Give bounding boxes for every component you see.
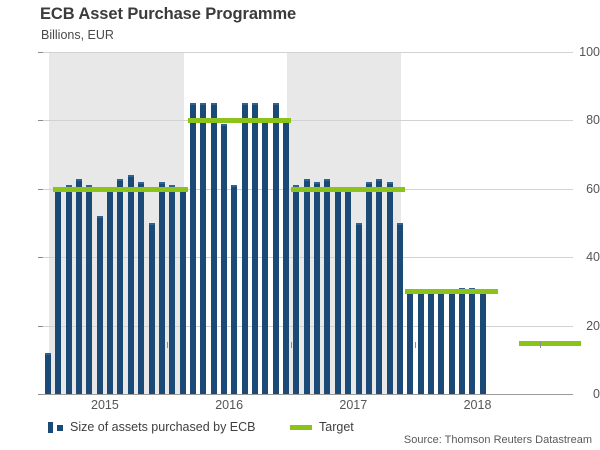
gridline — [43, 52, 573, 53]
x-axis-tick-label: 2017 — [339, 398, 367, 412]
bar — [335, 189, 341, 394]
target-line-segment — [53, 187, 187, 192]
legend-line-swatch — [290, 425, 312, 430]
bar — [76, 179, 82, 394]
bar — [190, 103, 196, 394]
bar — [200, 103, 206, 394]
x-axis-tick-mark — [540, 342, 541, 348]
bar — [252, 103, 258, 394]
bar — [273, 103, 279, 394]
y-axis-tick-mark — [38, 52, 43, 53]
y-axis-tick-label: 80 — [566, 113, 600, 127]
x-axis-tick-label: 2018 — [464, 398, 492, 412]
gridline — [43, 120, 573, 121]
bar — [159, 182, 165, 394]
y-axis-tick-label: 20 — [566, 319, 600, 333]
legend-item[interactable]: Size of assets purchased by ECB — [48, 420, 256, 434]
bar — [293, 185, 299, 394]
bar — [418, 291, 424, 394]
legend-item-label: Size of assets purchased by ECB — [70, 420, 256, 434]
bar — [324, 179, 330, 394]
bar — [356, 223, 362, 394]
bar — [397, 223, 403, 394]
bar — [407, 291, 413, 394]
chart-container: ECB Asset Purchase Programme Billions, E… — [0, 0, 600, 450]
bar — [366, 182, 372, 394]
x-axis-tick-label: 2015 — [91, 398, 119, 412]
plot-area — [43, 52, 573, 394]
bar — [107, 189, 113, 394]
bar — [459, 288, 465, 394]
bar — [387, 182, 393, 394]
bar — [221, 124, 227, 394]
gridline — [43, 394, 573, 395]
bar — [149, 223, 155, 394]
bar — [231, 185, 237, 394]
target-line-segment — [519, 341, 581, 346]
source-note: Source: Thomson Reuters Datastream — [404, 434, 592, 446]
target-line-segment — [188, 118, 291, 123]
y-axis-tick-label: 40 — [566, 250, 600, 264]
target-line-segment — [405, 289, 498, 294]
bar — [262, 120, 268, 394]
chart-title: ECB Asset Purchase Programme — [40, 5, 296, 24]
bar — [45, 353, 51, 394]
bar — [314, 182, 320, 394]
x-axis-tick-mark — [167, 342, 168, 348]
legend-item[interactable]: Target — [290, 420, 354, 434]
y-axis-tick-label: 100 — [566, 45, 600, 59]
bar — [169, 185, 175, 394]
y-axis-tick-mark — [38, 257, 43, 258]
y-axis-tick-mark — [38, 394, 43, 395]
bar — [128, 175, 134, 394]
legend-bar-swatch-tall — [48, 422, 53, 433]
bar — [55, 189, 61, 394]
bar — [345, 189, 351, 394]
chart-subtitle: Billions, EUR — [41, 28, 114, 42]
x-axis-tick-mark — [291, 342, 292, 348]
bar — [480, 291, 486, 394]
y-axis-tick-mark — [38, 189, 43, 190]
bar — [449, 291, 455, 394]
y-axis-tick-label: 60 — [566, 182, 600, 196]
x-axis-tick-label: 2016 — [215, 398, 243, 412]
bar — [138, 182, 144, 394]
bar — [86, 185, 92, 394]
y-axis-tick-label: 0 — [566, 387, 600, 401]
bar — [66, 185, 72, 394]
bar — [283, 120, 289, 394]
bar — [117, 179, 123, 394]
bar — [242, 103, 248, 394]
y-axis-tick-mark — [38, 326, 43, 327]
bar — [211, 103, 217, 394]
bar — [438, 291, 444, 394]
legend-item-label: Target — [319, 420, 354, 434]
y-axis-tick-mark — [38, 120, 43, 121]
x-axis-tick-mark — [415, 342, 416, 348]
bar — [97, 216, 103, 394]
bar — [304, 179, 310, 394]
target-line-segment — [291, 187, 405, 192]
bar — [376, 179, 382, 394]
bar — [428, 291, 434, 394]
legend-bar-swatch-small — [57, 425, 63, 431]
bar — [469, 288, 475, 394]
bar — [180, 189, 186, 394]
